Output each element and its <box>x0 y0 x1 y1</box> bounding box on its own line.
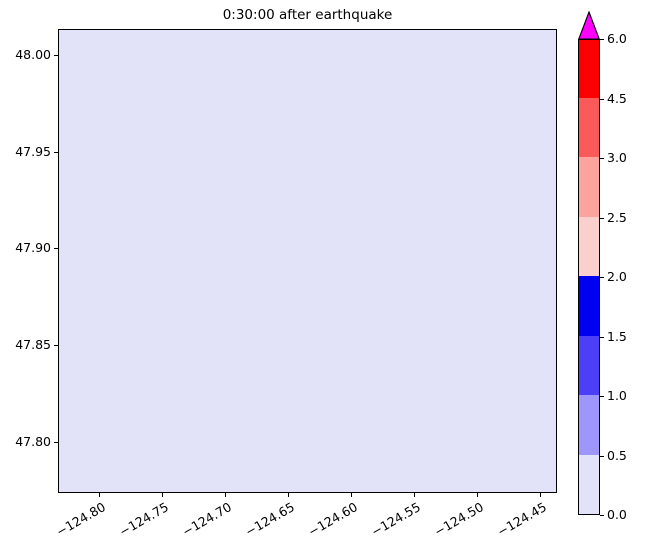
x-tick-label: −124.45 <box>488 500 549 543</box>
y-tick-mark <box>54 152 58 153</box>
colorbar-tick-label: 2.0 <box>607 270 627 284</box>
colorbar-tick-mark <box>600 39 604 40</box>
y-tick-label: 48.00 <box>0 48 51 62</box>
y-axis-tick-labels: 47.8047.8547.9047.9548.00 <box>0 0 51 541</box>
x-tick-mark <box>477 493 478 497</box>
colorbar-over-arrow-icon <box>578 11 600 40</box>
x-tick-mark <box>414 493 415 497</box>
y-tick-mark <box>54 345 58 346</box>
y-tick-label: 47.80 <box>0 435 51 449</box>
colorbar-tick-mark <box>600 396 604 397</box>
x-tick-mark <box>288 493 289 497</box>
colorbar-tick-mark <box>600 456 604 457</box>
colorbar-band <box>579 157 599 217</box>
x-tick-label: −124.80 <box>47 500 108 543</box>
x-tick-label: −124.75 <box>110 500 171 543</box>
x-tick-mark <box>225 493 226 497</box>
colorbar-tick-mark <box>600 99 604 100</box>
colorbar-band <box>579 454 599 514</box>
colorbar-tick-mark <box>600 277 604 278</box>
scalar-field-area <box>59 30 556 492</box>
x-tick-label: −124.70 <box>173 500 234 543</box>
colorbar-band <box>579 216 599 276</box>
y-tick-label: 47.90 <box>0 241 51 255</box>
colorbar-tick-mark <box>600 158 604 159</box>
colorbar-band <box>579 39 599 98</box>
colorbar-band <box>579 276 599 336</box>
x-tick-mark <box>99 493 100 497</box>
x-tick-label: −124.50 <box>425 500 486 543</box>
colorbar-tick-label: 1.0 <box>607 389 627 403</box>
x-tick-mark <box>540 493 541 497</box>
y-tick-label: 47.95 <box>0 145 51 159</box>
colorbar-tick-label: 6.0 <box>607 32 627 46</box>
y-tick-mark <box>54 248 58 249</box>
y-tick-mark <box>54 55 58 56</box>
colorbar-tick-label: 2.5 <box>607 211 627 225</box>
y-tick-mark <box>54 442 58 443</box>
colorbar-tick-mark <box>600 218 604 219</box>
colorbar-tick-mark <box>600 515 604 516</box>
x-tick-mark <box>162 493 163 497</box>
colorbar-tick-label: 3.0 <box>607 151 627 165</box>
figure-canvas: 0:30:00 after earthquake −124.80−124.75−… <box>0 0 651 541</box>
page-title: 0:30:00 after earthquake <box>58 7 557 23</box>
colorbar-tick-mark <box>600 337 604 338</box>
colorbar-band <box>579 395 599 455</box>
colorbar-band <box>579 97 599 157</box>
x-tick-label: −124.65 <box>236 500 297 543</box>
y-tick-label: 47.85 <box>0 338 51 352</box>
map-axes[interactable] <box>58 29 557 493</box>
x-tick-label: −124.60 <box>299 500 360 543</box>
colorbar-band <box>579 335 599 395</box>
x-tick-mark <box>351 493 352 497</box>
colorbar-tick-label: 1.5 <box>607 330 627 344</box>
colorbar-tick-label: 4.5 <box>607 92 627 106</box>
colorbar-gradient <box>578 39 600 515</box>
colorbar[interactable]: 0.00.51.01.52.02.53.04.56.0 <box>578 10 651 510</box>
colorbar-tick-label: 0.0 <box>607 508 627 522</box>
x-tick-label: −124.55 <box>362 500 423 543</box>
colorbar-tick-label: 0.5 <box>607 449 627 463</box>
